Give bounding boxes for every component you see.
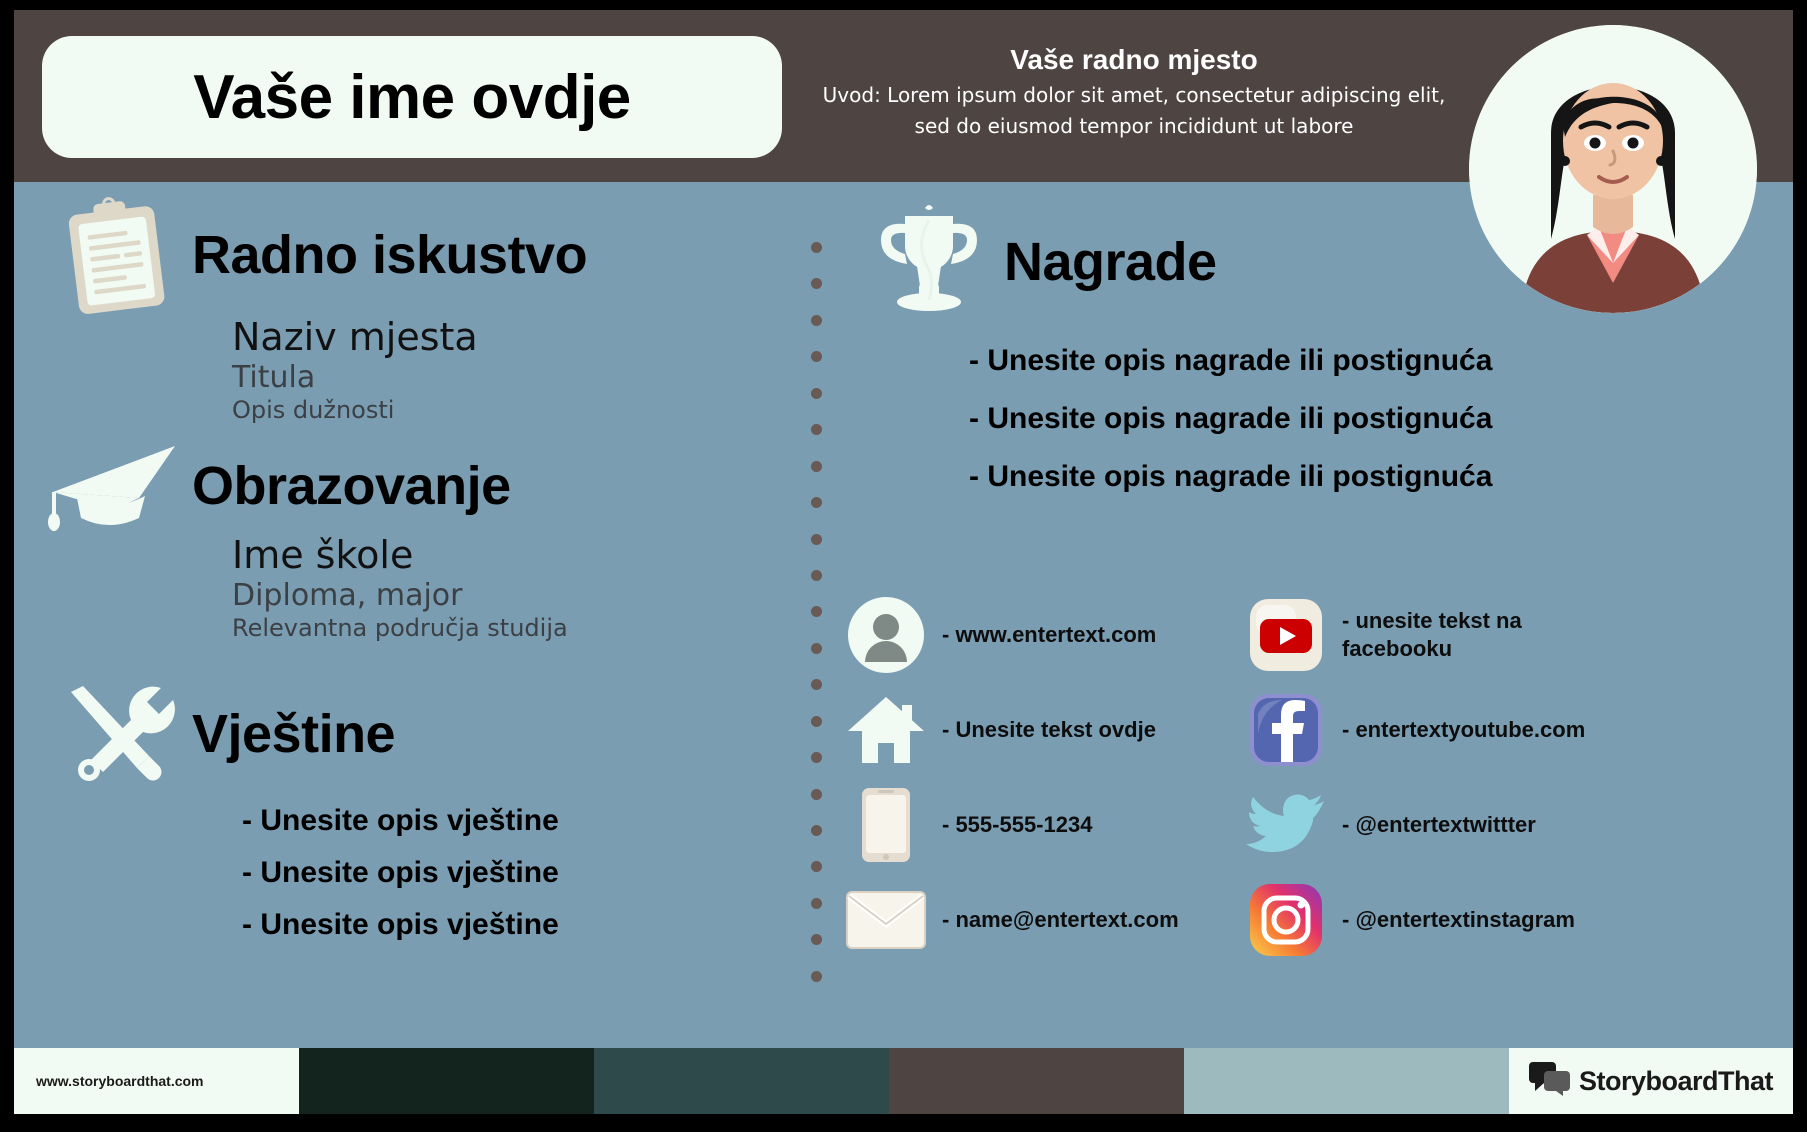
- contact-row[interactable]: - unesite tekst na facebooku: [1244, 587, 1789, 682]
- divider-dot: [811, 424, 822, 435]
- divider-dot: [811, 971, 822, 982]
- contact-row[interactable]: - entertextyoutube.com: [1244, 682, 1789, 777]
- education-fields: Relevantna područja studija: [232, 614, 782, 643]
- contact-label: - entertextyoutube.com: [1342, 716, 1585, 744]
- phone-icon: [844, 785, 928, 865]
- youtube-icon: [1244, 595, 1328, 675]
- speech-bubble-icon: [1529, 1062, 1571, 1101]
- footer-swatch-3: [889, 1048, 1184, 1114]
- divider-dot: [811, 861, 822, 872]
- footer-logo[interactable]: StoryboardThat: [1509, 1048, 1793, 1114]
- experience-title: Radno iskustvo: [192, 224, 587, 286]
- divider-dot: [811, 898, 822, 909]
- dotted-divider: [809, 242, 823, 982]
- person-name: Vaše ime ovdje: [193, 62, 631, 133]
- divider-dot: [811, 752, 822, 763]
- education-header: Obrazovanje: [42, 440, 782, 532]
- envelope-icon: [844, 880, 928, 960]
- contact-row[interactable]: - www.entertext.com: [844, 587, 1244, 682]
- section-skills: Vještine - Unesite opis vještine- Unesit…: [42, 682, 782, 942]
- divider-dot: [811, 315, 822, 326]
- divider-dot: [811, 351, 822, 362]
- graduation-cap-icon: [42, 440, 192, 532]
- trophy-icon: [854, 202, 1004, 322]
- divider-dot: [811, 606, 822, 617]
- divider-dot: [811, 934, 822, 945]
- footer-swatch-1: [299, 1048, 594, 1114]
- contact-label: - www.entertext.com: [942, 621, 1156, 649]
- experience-role: Titula: [232, 360, 782, 396]
- avatar[interactable]: [1469, 25, 1757, 313]
- contact-label: - Unesite tekst ovdje: [942, 716, 1156, 744]
- education-title: Obrazovanje: [192, 455, 511, 517]
- contact-row[interactable]: - @entertextwittter: [1244, 777, 1789, 872]
- experience-duties: Opis dužnosti: [232, 396, 782, 425]
- awards-list: - Unesite opis nagrade ili postignuća- U…: [969, 344, 1789, 494]
- contact-row[interactable]: - @entertextinstagram: [1244, 872, 1789, 967]
- footer-brand-b: That: [1718, 1066, 1773, 1096]
- contact-label: - name@entertext.com: [942, 906, 1179, 934]
- name-plate[interactable]: Vaše ime ovdje: [42, 36, 782, 158]
- instagram-icon: [1244, 880, 1328, 960]
- contact-row[interactable]: - Unesite tekst ovdje: [844, 682, 1244, 777]
- footer-swatch-2: [594, 1048, 889, 1114]
- contact-label: - 555-555-1234: [942, 811, 1092, 839]
- divider-dot: [811, 278, 822, 289]
- tools-icon: [42, 682, 192, 786]
- home-icon: [844, 690, 928, 770]
- contact-row[interactable]: - 555-555-1234: [844, 777, 1244, 872]
- skills-list: - Unesite opis vještine- Unesite opis vj…: [242, 804, 782, 942]
- person-icon: [844, 595, 928, 675]
- skill-item: - Unesite opis vještine: [242, 856, 782, 890]
- contact-row[interactable]: - name@entertext.com: [844, 872, 1244, 967]
- job-intro-line-2: sed do eiusmod tempor incididunt ut labo…: [794, 113, 1474, 139]
- divider-dot: [811, 716, 822, 727]
- education-degree: Diploma, major: [232, 578, 782, 614]
- divider-dot: [811, 242, 822, 253]
- contact-label: - @entertextwittter: [1342, 811, 1536, 839]
- job-block: Vaše radno mjesto Uvod: Lorem ipsum dolo…: [794, 42, 1474, 139]
- divider-dot: [811, 461, 822, 472]
- twitter-icon: [1244, 785, 1328, 865]
- skill-item: - Unesite opis vještine: [242, 908, 782, 942]
- left-column: Radno iskustvo Naziv mjesta Titula Opis …: [14, 182, 804, 1048]
- job-title: Vaše radno mjesto: [794, 42, 1474, 77]
- divider-dot: [811, 570, 822, 581]
- footer-bar: www.storyboardthat.com StoryboardThat: [14, 1048, 1793, 1114]
- divider-dot: [811, 497, 822, 508]
- skills-header: Vještine: [42, 682, 782, 786]
- section-experience: Radno iskustvo Naziv mjesta Titula Opis …: [42, 196, 782, 424]
- education-body: Ime škole Diploma, major Relevantna podr…: [232, 534, 782, 642]
- divider-dot: [811, 534, 822, 545]
- award-item: - Unesite opis nagrade ili postignuća: [969, 344, 1789, 378]
- skill-item: - Unesite opis vještine: [242, 804, 782, 838]
- footer-url[interactable]: www.storyboardthat.com: [14, 1048, 299, 1114]
- divider-dot: [811, 789, 822, 800]
- experience-header: Radno iskustvo: [42, 196, 782, 314]
- skills-title: Vještine: [192, 703, 395, 765]
- contact-label: - unesite tekst na facebooku: [1342, 607, 1632, 662]
- poster-canvas: Vaše ime ovdje Vaše radno mjesto Uvod: L…: [14, 10, 1793, 1114]
- body-area: Radno iskustvo Naziv mjesta Titula Opis …: [14, 182, 1793, 1048]
- divider-dot: [811, 388, 822, 399]
- footer-swatch-4: [1184, 1048, 1509, 1114]
- section-education: Obrazovanje Ime škole Diploma, major Rel…: [42, 440, 782, 642]
- divider-dot: [811, 825, 822, 836]
- job-intro-line-1: Uvod: Lorem ipsum dolor sit amet, consec…: [794, 82, 1474, 108]
- contact-label: - @entertextinstagram: [1342, 906, 1575, 934]
- experience-place: Naziv mjesta: [232, 316, 782, 360]
- divider-dot: [811, 679, 822, 690]
- awards-title: Nagrade: [1004, 231, 1217, 293]
- divider-dot: [811, 643, 822, 654]
- contacts-grid: - www.entertext.com- unesite tekst na fa…: [844, 587, 1789, 967]
- education-school: Ime škole: [232, 534, 782, 578]
- clipboard-icon: [42, 196, 192, 314]
- experience-body: Naziv mjesta Titula Opis dužnosti: [232, 316, 782, 424]
- award-item: - Unesite opis nagrade ili postignuća: [969, 402, 1789, 436]
- footer-url-text: www.storyboardthat.com: [36, 1073, 204, 1089]
- award-item: - Unesite opis nagrade ili postignuća: [969, 460, 1789, 494]
- footer-brand-a: Storyboard: [1579, 1066, 1718, 1096]
- footer-brand: StoryboardThat: [1579, 1066, 1773, 1097]
- facebook-icon: [1244, 690, 1328, 770]
- right-column: Nagrade - Unesite opis nagrade ili posti…: [844, 182, 1789, 1048]
